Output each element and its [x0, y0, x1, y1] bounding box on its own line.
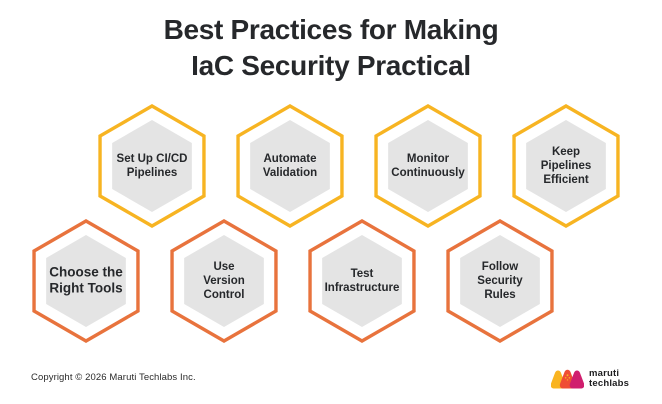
title-line-1: Best Practices for Making [0, 12, 662, 48]
hex-label: Automate Validation [263, 152, 317, 180]
hex-label: Use Version Control [203, 260, 245, 302]
title-line-2: IaC Security Practical [0, 48, 662, 84]
hex-label: Keep Pipelines Efficient [541, 145, 592, 187]
maruti-techlabs-logo: marutitechlabs [551, 366, 643, 392]
hex-label: Monitor Continuously [391, 152, 464, 180]
logo-line-2: techlabs [589, 378, 629, 389]
page-title: Best Practices for Making IaC Security P… [0, 12, 662, 84]
hex-label: Choose the Right Tools [49, 265, 123, 298]
hex-label: Test Infrastructure [325, 267, 400, 295]
logo-wordmark: marutitechlabs [589, 369, 629, 389]
infographic-canvas: Best Practices for Making IaC Security P… [0, 0, 662, 404]
hex-label: Set Up CI/CD Pipelines [117, 152, 188, 180]
hex-label: Follow Security Rules [477, 260, 522, 302]
copyright-text: Copyright © 2026 Maruti Techlabs Inc. [31, 372, 196, 383]
maruti-techlabs-mountains-icon [551, 369, 584, 390]
